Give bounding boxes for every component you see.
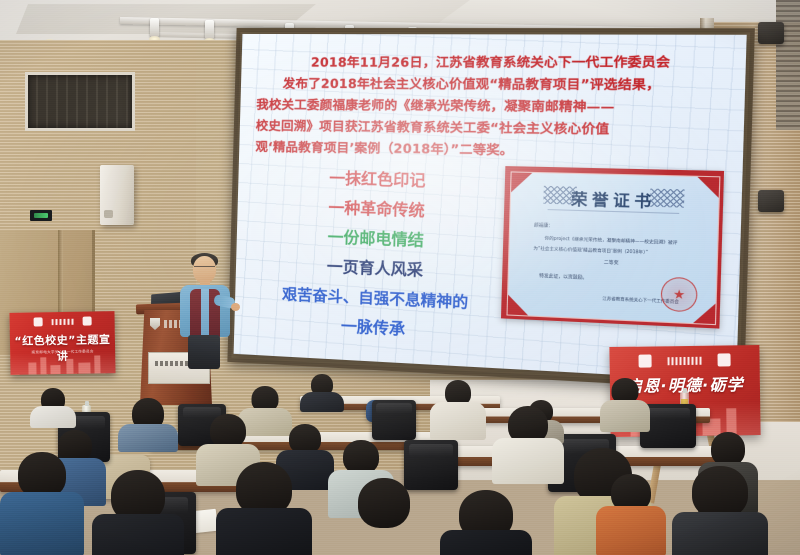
slide-paragraph: 2018年11月26日，江苏省教育系统关心下一代工作委员会 发布了2018年社会…: [255, 50, 732, 164]
audience-body: [300, 392, 344, 412]
audience-body: [672, 512, 768, 555]
audience-member: [30, 388, 76, 428]
university-logo-icon: [33, 317, 42, 326]
audience-body: [430, 402, 486, 440]
presenter: [176, 256, 234, 366]
slide-content: 2018年11月26日，江苏省教育系统关心下一代工作委员会 发布了2018年社会…: [234, 34, 747, 381]
presenter-legs: [188, 335, 220, 369]
audience-body: [340, 520, 428, 555]
certificate-body-line: 你的project《继承光荣传统，凝聚南邮精神——校史回溯》被评: [544, 234, 677, 246]
audience-body: [92, 514, 184, 555]
university-logo-icon: [638, 354, 651, 367]
audience-head: [711, 432, 745, 466]
audience-head: [343, 440, 379, 474]
audience-member: [600, 378, 650, 432]
poster-skyline-art: [10, 351, 115, 375]
audience-member: [118, 398, 178, 452]
certificate-seal-icon: [660, 277, 697, 313]
projection-screen: 2018年11月26日，江苏省教育系统关心下一代工作委员会 发布了2018年社会…: [234, 34, 747, 381]
certificate-image: 荣誉证书 颜福康： 你的project《继承光荣传统，凝聚南邮精神——校史回溯》…: [501, 166, 724, 329]
wall-speaker-icon: [758, 190, 784, 212]
audience-member: [92, 470, 184, 555]
certificate-title: 荣誉证书: [511, 186, 719, 214]
audience-head: [692, 466, 748, 518]
slide-bullet-list: 一抹红色印记 一种革命传统 一份邮电情结 一页育人风采 艰苦奋斗、自强不息精神的…: [256, 163, 499, 350]
wall-speaker-icon: [758, 22, 784, 44]
slide-paragraph-line: 2018年11月26日，江苏省教育系统关心下一代工作委员会: [257, 50, 732, 73]
chair: [372, 400, 416, 440]
university-wordmark: [668, 356, 702, 364]
audience-member: [0, 452, 84, 555]
lecture-hall-photo: 2018年11月26日，江苏省教育系统关心下一代工作委员会 发布了2018年社会…: [0, 0, 800, 555]
certificate-corner: [693, 303, 715, 324]
certificate-award-level: 二等奖: [509, 256, 717, 271]
window-blinds: [776, 0, 800, 130]
glasses-icon: [194, 266, 215, 272]
certificate-salutation: 颜福康：: [534, 222, 553, 230]
partner-logo-icon: [82, 316, 91, 325]
certificate-inner: 荣誉证书 颜福康： 你的project《继承光荣传统，凝聚南邮精神——校史回溯》…: [506, 171, 720, 325]
audience-member: [672, 466, 768, 555]
spotlight-icon: [205, 20, 214, 40]
slide-paragraph-line: 发布了2018年社会主义核心价值观“精品教育项目”评选结果，: [257, 73, 732, 96]
audience-member: [596, 474, 666, 555]
audience-body: [0, 492, 84, 555]
certificate-corner: [508, 295, 529, 316]
audience-body: [118, 424, 178, 452]
slide-paragraph-line: 观‘精品教育项目’案例（2018年）”二等奖。: [255, 136, 730, 164]
audience-body: [596, 506, 666, 555]
university-wordmark: [51, 318, 73, 324]
poster-red-campus-history: “红色校史”主题宣讲 南京邮电大学关心下一代工作委员会: [9, 311, 115, 375]
poster-logo-row: [10, 316, 115, 327]
poster-logo-row: [609, 353, 759, 368]
audience-member: [430, 380, 486, 440]
audience-member: [216, 462, 312, 555]
spotlight-icon: [150, 18, 159, 38]
audience-member: [300, 374, 344, 412]
audience-member: [440, 490, 532, 555]
certificate-body-line: 为“社会主义核心价值观‘精品教育项目’案例（2018年）”: [533, 244, 648, 255]
audience-body: [216, 508, 312, 555]
audience-body: [600, 400, 650, 432]
audience-head: [210, 414, 246, 448]
exit-sign-icon: [30, 210, 52, 221]
presenter-hand: [231, 303, 240, 311]
partner-logo-icon: [717, 353, 730, 366]
wall-speaker-icon: [100, 165, 134, 225]
audience-body: [30, 406, 76, 428]
audience-member: [340, 478, 428, 555]
certificate-closing: 特发此证，以资鼓励。: [539, 273, 587, 282]
wall-vent-grille: [25, 72, 135, 131]
audience-body: [440, 530, 532, 555]
